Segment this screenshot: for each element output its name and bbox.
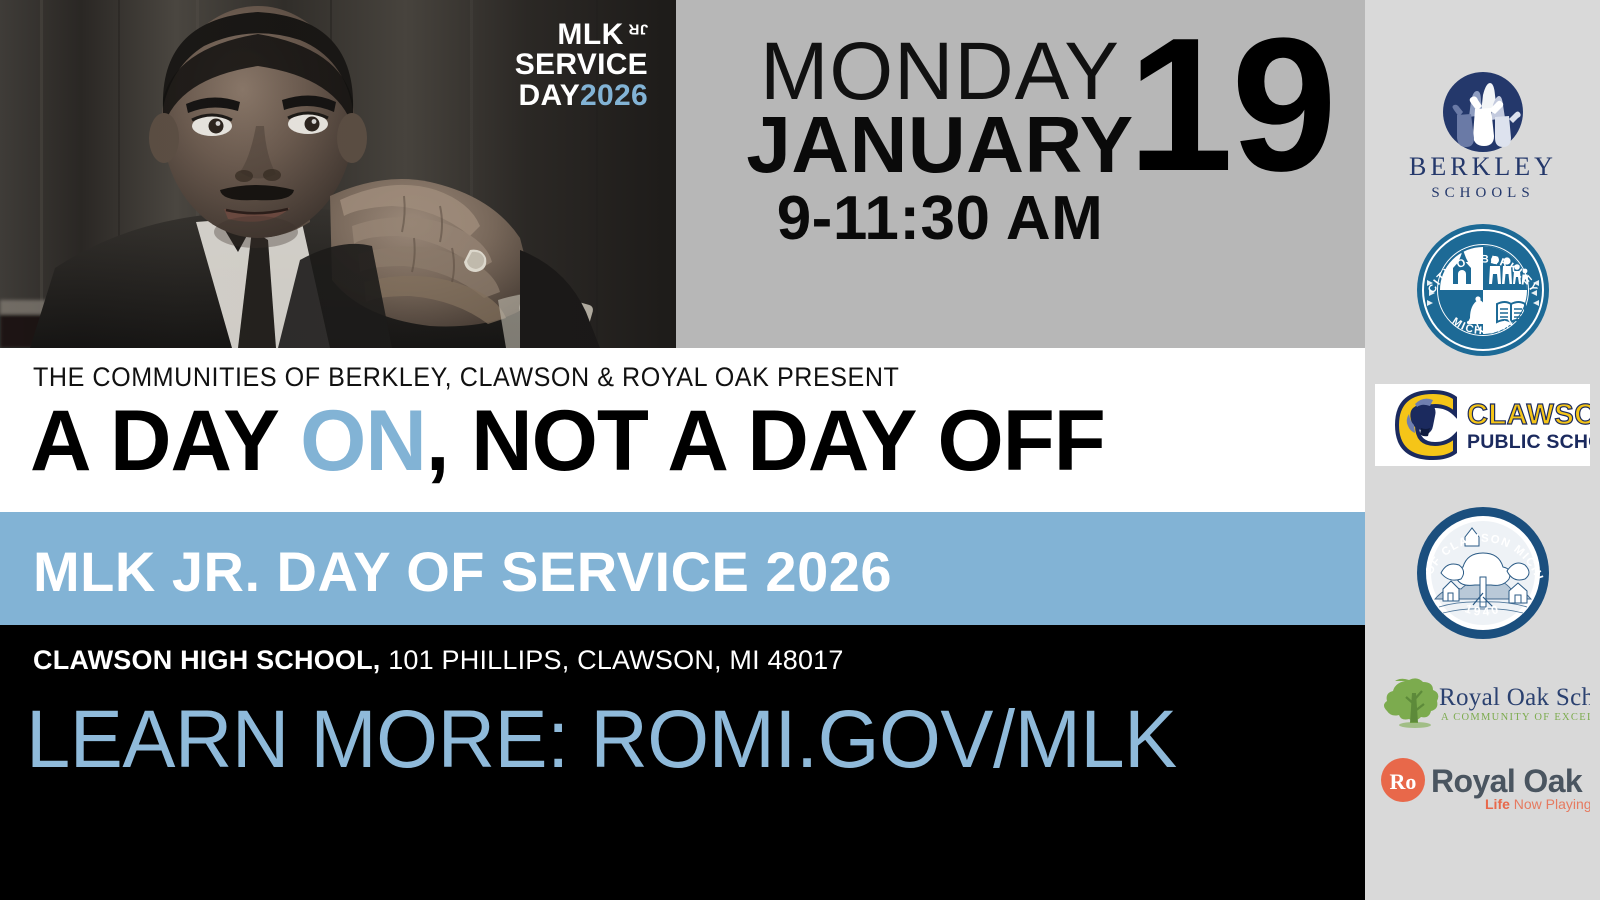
location-line: CLAWSON HIGH SCHOOL, 101 PHILLIPS, CLAWS…: [33, 645, 844, 676]
date-month: JANUARY: [710, 107, 1170, 183]
logo-jr-text: JR: [628, 21, 648, 36]
learn-more-url[interactable]: LEARN MORE: ROMI.GOV/MLK: [26, 693, 1177, 787]
date-time: 9-11:30 AM: [710, 187, 1170, 250]
sponsor-subtitle-berkley: SCHOOLS: [1431, 185, 1534, 201]
sponsor-tagline-accent: Life: [1485, 796, 1510, 812]
trojan-c-icon: CLAWSON PUBLIC SCHOOLS: [1375, 384, 1590, 466]
headline-part-2: , NOT A DAY OFF: [426, 393, 1105, 489]
flyer-main-column: MLKJR SERVICE DAY2026 MONDAY JANUARY 9-1…: [0, 0, 1365, 900]
logo-year-text: 2026: [580, 79, 648, 112]
mlk-portrait-photo: MLKJR SERVICE DAY2026: [0, 0, 676, 348]
sponsor-name-berkley: BERKLEY: [1409, 152, 1557, 181]
details-band: CLAWSON HIGH SCHOOL, 101 PHILLIPS, CLAWS…: [0, 625, 1365, 900]
subtitle-band: MLK JR. DAY OF SERVICE 2026: [0, 512, 1365, 625]
logo-day-text: DAY: [519, 79, 581, 112]
mlk-service-day-logo: MLKJR SERVICE DAY2026: [515, 20, 648, 110]
city-seal-tree-icon: CITY OF CLAWSON MICHIGAN 1940: [1413, 503, 1553, 643]
sponsor-logo-city-of-clawson[interactable]: CITY OF CLAWSON MICHIGAN 1940: [1365, 500, 1600, 645]
sponsor-logo-city-of-royal-oak[interactable]: Ro Royal Oak Life Now Playing: [1365, 748, 1600, 818]
sponsor-logo-clawson-public-schools[interactable]: CLAWSON PUBLIC SCHOOLS: [1365, 380, 1600, 470]
date-weekday: MONDAY: [710, 34, 1170, 109]
sponsor-logo-berkley-schools[interactable]: BERKLEY SCHOOLS: [1365, 62, 1600, 212]
venue-address-text: 101 PHILLIPS, CLAWSON, MI 48017: [388, 645, 843, 675]
ro-monogram-text: Ro: [1390, 769, 1417, 794]
city-seal-icon: CITY OF BERKLEY MICHIGAN: [1413, 220, 1553, 360]
headline-part-1: A DAY: [30, 393, 300, 489]
ro-monogram-icon: Ro Royal Oak Life Now Playing: [1375, 752, 1590, 814]
logo-day-year-text: DAY2026: [515, 81, 648, 110]
presented-by-line: THE COMMUNITIES OF BERKLEY, CLAWSON & RO…: [33, 362, 899, 393]
sponsor-name-city-of-royal-oak: Royal Oak: [1431, 763, 1583, 799]
tree-icon: Royal Oak Schools A COMMUNITY OF EXCELLE…: [1375, 671, 1590, 729]
sponsor-logo-city-of-berkley[interactable]: CITY OF BERKLEY MICHIGAN: [1365, 215, 1600, 365]
date-panel: MONDAY JANUARY 9-11:30 AM 19: [676, 0, 1365, 348]
date-stack: MONDAY JANUARY 9-11:30 AM: [710, 34, 1170, 251]
headline-band: THE COMMUNITIES OF BERKLEY, CLAWSON & RO…: [0, 348, 1365, 512]
sponsor-logo-royal-oak-schools[interactable]: Royal Oak Schools A COMMUNITY OF EXCELLE…: [1365, 668, 1600, 732]
sponsor-name-clawson: CLAWSON: [1467, 399, 1590, 431]
logo-mlk-text: MLK: [557, 20, 623, 49]
event-subtitle: MLK JR. DAY OF SERVICE 2026: [33, 539, 892, 604]
raised-hands-circle-icon: BERKLEY SCHOOLS: [1383, 67, 1583, 207]
mlk-service-day-flyer: MLKJR SERVICE DAY2026 MONDAY JANUARY 9-1…: [0, 0, 1600, 900]
sponsor-sidebar: BERKLEY SCHOOLS: [1365, 0, 1600, 900]
logo-service-text: SERVICE: [515, 50, 648, 79]
sponsor-subtitle-royal-oak-schools: A COMMUNITY OF EXCELLENCE: [1441, 712, 1590, 723]
sponsor-subtitle-clawson: PUBLIC SCHOOLS: [1467, 431, 1590, 453]
headline: A DAY ON, NOT A DAY OFF: [30, 396, 1105, 486]
date-day-number: 19: [1128, 24, 1335, 187]
sponsor-name-royal-oak-schools: Royal Oak Schools: [1439, 684, 1590, 711]
venue-name: CLAWSON HIGH SCHOOL,: [33, 645, 381, 675]
top-zone: MLKJR SERVICE DAY2026 MONDAY JANUARY 9-1…: [0, 0, 1365, 348]
sponsor-tagline-royal-oak: Life Now Playing: [1485, 796, 1590, 812]
headline-highlight: ON: [300, 393, 426, 489]
